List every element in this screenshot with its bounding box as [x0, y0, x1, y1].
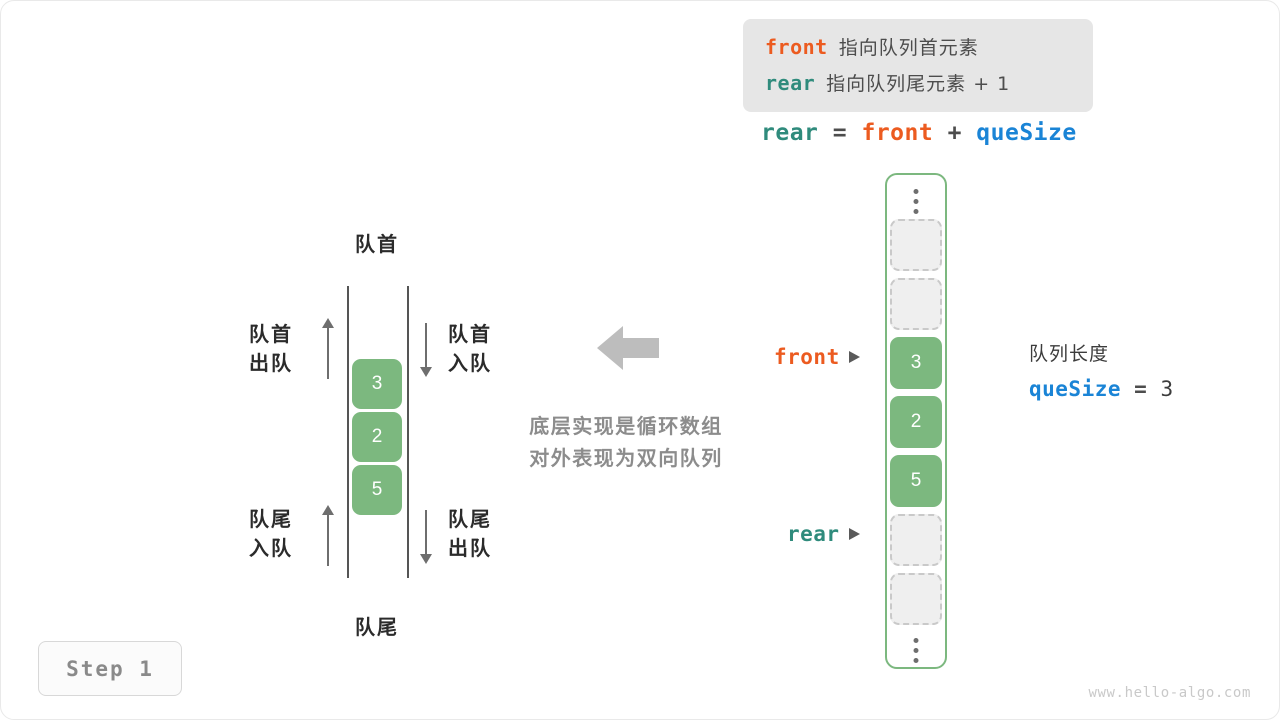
- step-badge: Step 1: [38, 641, 182, 696]
- quesize-equals: =: [1134, 377, 1147, 401]
- watermark: www.hello-algo.com: [1088, 685, 1251, 701]
- deque-element-1: 2: [352, 412, 402, 462]
- op-head-pop-arrow-shaft: [327, 327, 329, 379]
- queue-size-title: 队列长度: [1029, 339, 1174, 366]
- op-head-push-line2: 入队: [448, 350, 492, 379]
- queue-size-note: 队列长度 queSize = 3: [1029, 339, 1174, 401]
- array-cell-5: [890, 514, 942, 566]
- op-head-pop-line2: 出队: [249, 350, 293, 379]
- info-line-front: front 指向队列首元素: [765, 33, 1093, 60]
- formula-quesize: queSize: [976, 120, 1076, 146]
- array-cell-3: 2: [890, 396, 942, 448]
- left-arrow-icon: [597, 324, 659, 372]
- quesize-value: 3: [1160, 377, 1173, 401]
- pointer-rear: rear: [787, 522, 860, 546]
- op-tail-push-arrow-shaft: [327, 514, 329, 566]
- ellipsis-bottom-icon: [914, 638, 919, 663]
- formula-plus: +: [948, 120, 962, 146]
- arrow-up-icon: [322, 505, 334, 515]
- implementation-caption: 底层实现是循环数组 对外表现为双向队列: [504, 410, 748, 474]
- pointer-front-label: front: [774, 345, 840, 369]
- deque-element-2: 5: [352, 465, 402, 515]
- deque-tail-label: 队尾: [346, 611, 408, 640]
- op-tail-pop-line1: 队尾: [448, 506, 492, 535]
- op-head-push-label: 队首 入队: [448, 321, 492, 379]
- deque-head-label: 队首: [346, 228, 408, 257]
- op-tail-push-line2: 入队: [249, 535, 293, 564]
- op-tail-pop-line2: 出队: [448, 535, 492, 564]
- array-cell-2: 3: [890, 337, 942, 389]
- arrow-down-icon: [420, 554, 432, 564]
- op-head-pop-label: 队首 出队: [249, 321, 293, 379]
- deque-element-0: 3: [352, 359, 402, 409]
- circular-array-container: 3 2 5: [885, 173, 947, 669]
- array-cell-4: 5: [890, 455, 942, 507]
- op-tail-pop-arrow-shaft: [425, 510, 427, 556]
- info-line-rear: rear 指向队列尾元素 + 1: [765, 69, 1093, 96]
- diagram-canvas: front 指向队列首元素 rear 指向队列尾元素 + 1 rear = fr…: [0, 0, 1280, 720]
- formula-rear: rear: [761, 120, 818, 146]
- front-description: 指向队列首元素: [839, 33, 979, 60]
- deque-element-0-value: 3: [372, 373, 383, 395]
- front-keyword: front: [765, 35, 828, 59]
- rear-keyword: rear: [765, 71, 815, 95]
- op-tail-pop-label: 队尾 出队: [448, 506, 492, 564]
- array-cell-2-value: 3: [911, 352, 922, 374]
- queue-size-expression: queSize = 3: [1029, 377, 1174, 401]
- pointer-rear-label: rear: [787, 522, 840, 546]
- op-head-push-line1: 队首: [448, 321, 492, 350]
- array-cell-6: [890, 573, 942, 625]
- deque-rail-left: [347, 286, 349, 578]
- quesize-variable: queSize: [1029, 377, 1121, 401]
- arrow-right-icon: [849, 528, 860, 540]
- formula-equals: =: [833, 120, 847, 146]
- formula-front: front: [861, 120, 933, 146]
- op-tail-push-line1: 队尾: [249, 506, 293, 535]
- ellipsis-top-icon: [914, 189, 919, 214]
- op-tail-push-label: 队尾 入队: [249, 506, 293, 564]
- op-head-push-arrow-shaft: [425, 323, 427, 369]
- pointer-definition-box: front 指向队列首元素 rear 指向队列尾元素 + 1: [743, 19, 1093, 112]
- deque-rail-right: [407, 286, 409, 578]
- caption-line-2: 对外表现为双向队列: [504, 442, 748, 474]
- formula-rear-equals-front-plus-quesize: rear = front + queSize: [761, 120, 1077, 146]
- deque-element-2-value: 5: [372, 479, 383, 501]
- array-cell-0: [890, 219, 942, 271]
- array-cell-3-value: 2: [911, 411, 922, 433]
- caption-line-1: 底层实现是循环数组: [504, 410, 748, 442]
- rear-description: 指向队列尾元素 + 1: [826, 69, 1010, 96]
- deque-element-1-value: 2: [372, 426, 383, 448]
- array-cell-1: [890, 278, 942, 330]
- arrow-down-icon: [420, 367, 432, 377]
- op-head-pop-line1: 队首: [249, 321, 293, 350]
- array-cell-4-value: 5: [911, 470, 922, 492]
- arrow-right-icon: [849, 351, 860, 363]
- arrow-up-icon: [322, 318, 334, 328]
- pointer-front: front: [774, 345, 860, 369]
